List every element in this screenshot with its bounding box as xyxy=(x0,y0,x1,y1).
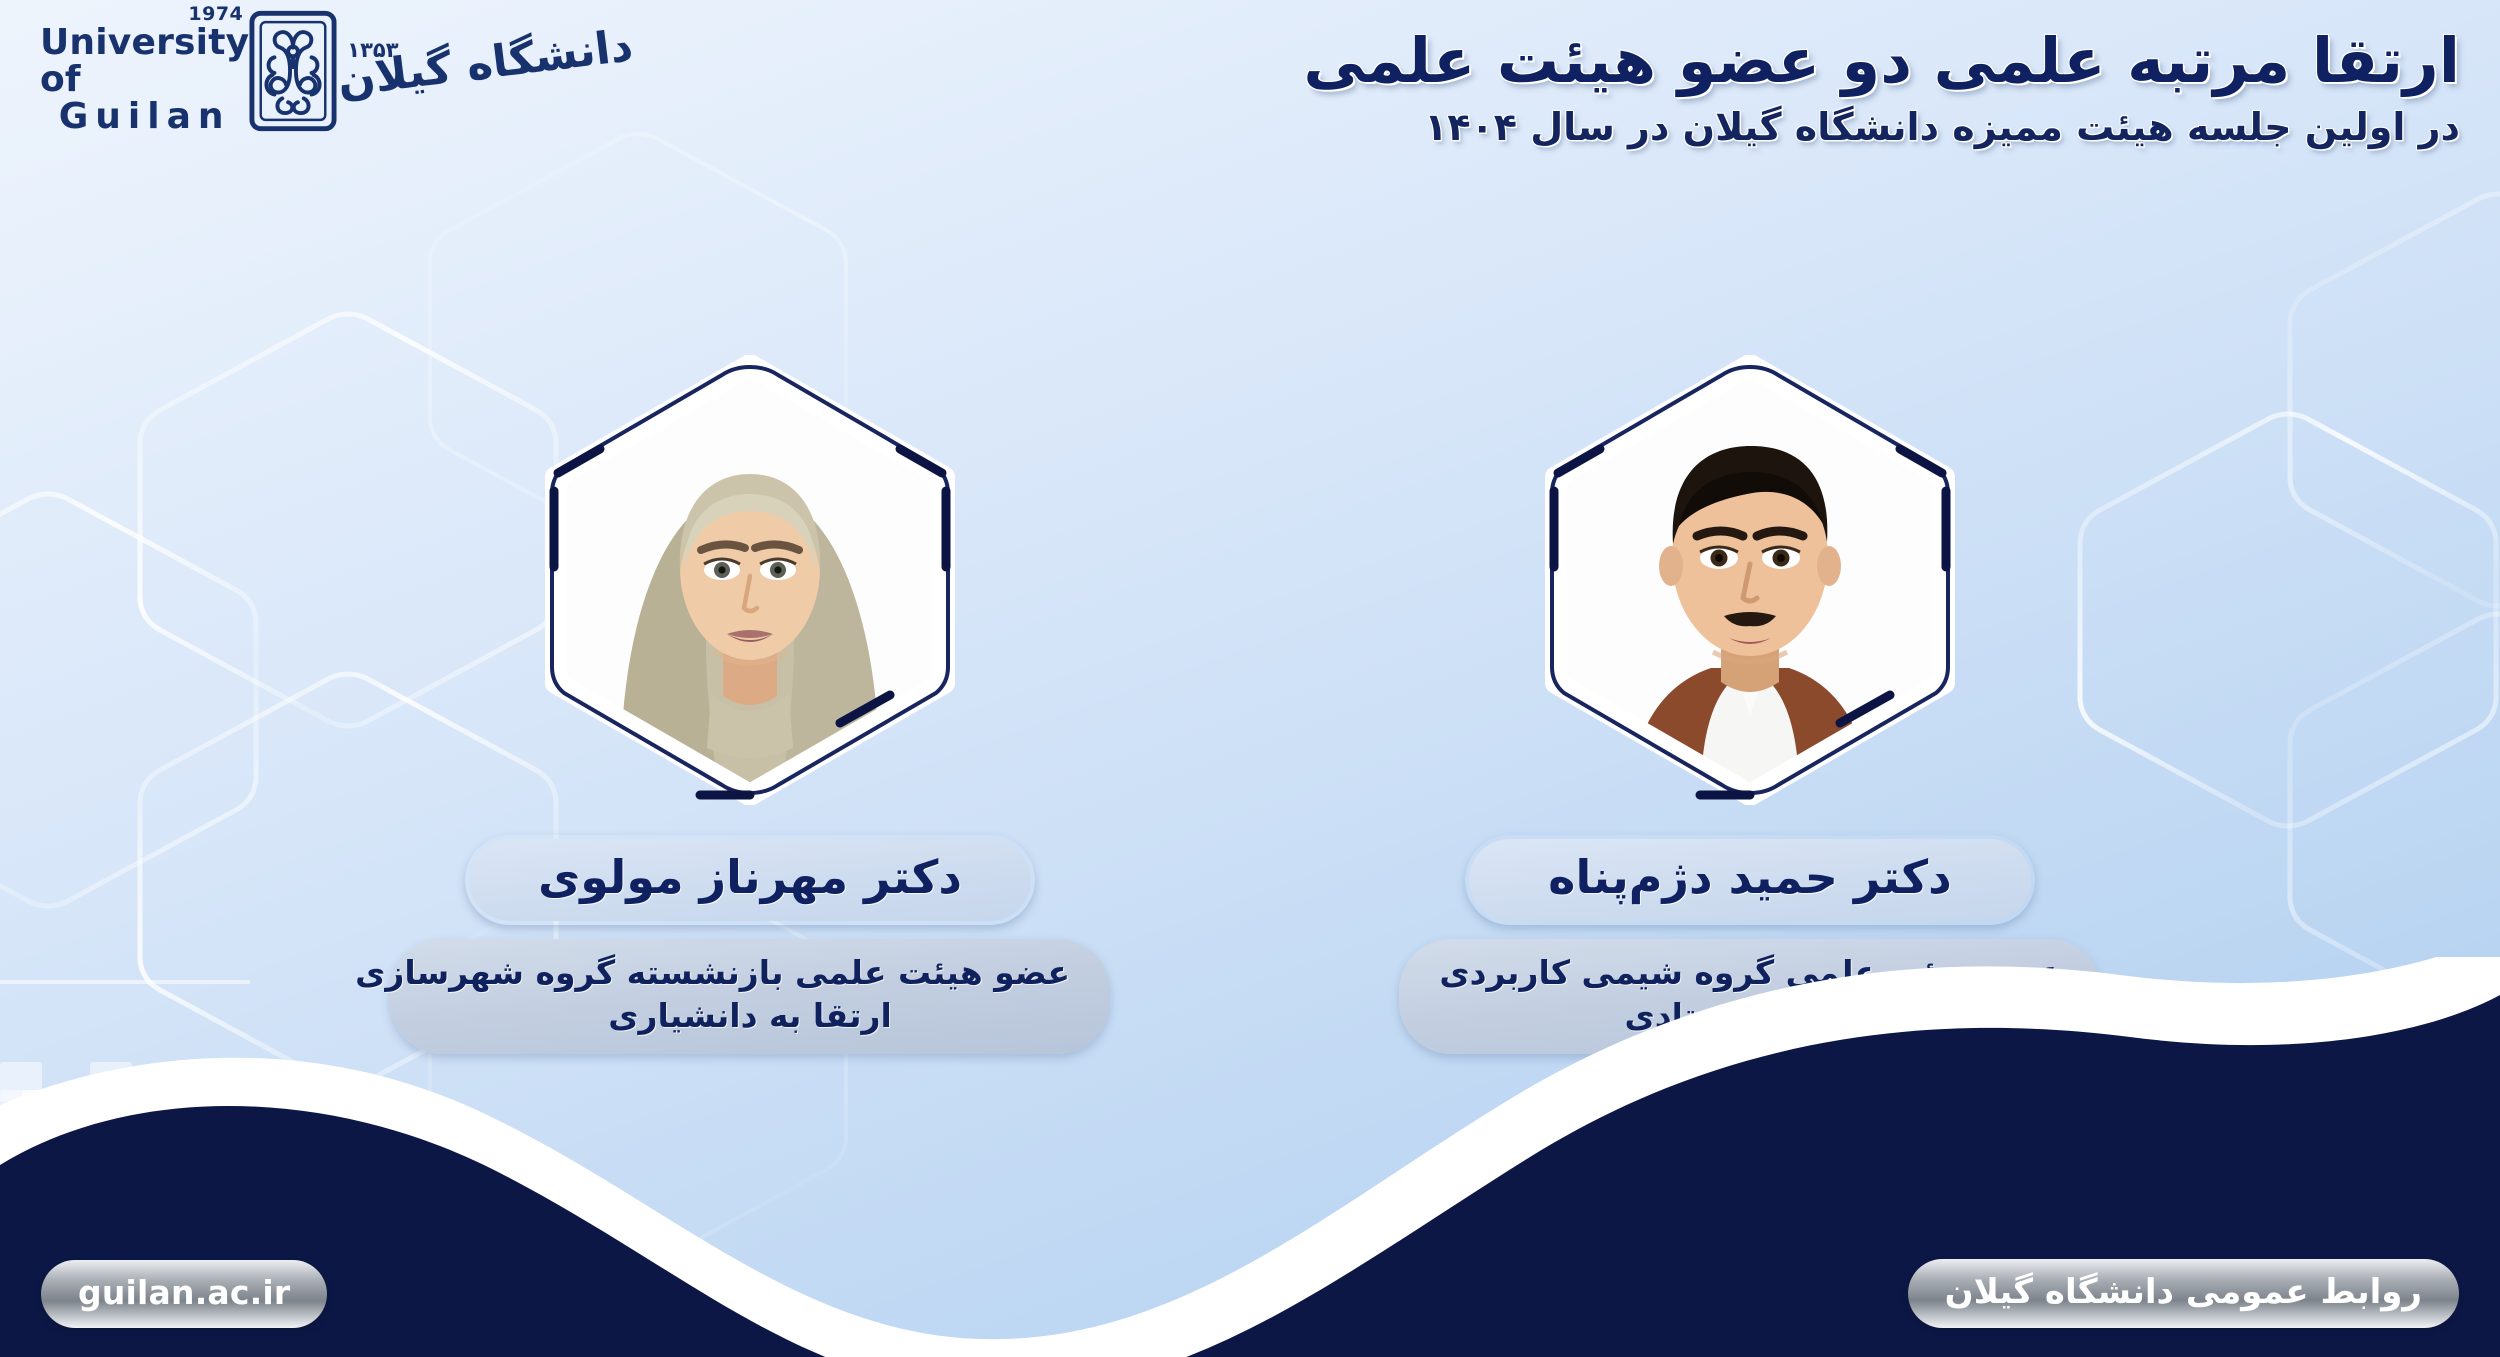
hex-photo-frame xyxy=(540,355,960,805)
website-label: guilan.ac.ir xyxy=(78,1273,290,1312)
website-pill[interactable]: guilan.ac.ir xyxy=(44,1263,324,1325)
poster-canvas: 1974 University of Guilan ۱۳۵۳ دانشگ xyxy=(0,0,2500,1357)
logo-line2: Guilan xyxy=(59,98,231,136)
logo-name-fa: دانشگاه گیلان xyxy=(335,20,636,107)
people-row: دکتر حمید دژم‌پناه عضو هیئت علمی گروه شی… xyxy=(0,355,2500,1054)
person-name-badge: دکتر حمید دژم‌پناه xyxy=(1465,835,2035,925)
hex-frame-outline xyxy=(1540,355,1960,805)
person-card: دکتر مهرناز مولوی عضو هیئت علمی بازنشسته… xyxy=(420,355,1080,1054)
butterfly-emblem-icon xyxy=(249,10,337,132)
logo-english-text: 1974 University of Guilan xyxy=(40,5,249,136)
logo-line1: University of xyxy=(40,25,249,98)
page-title: ارتقا مرتبه علمی دو عضو هیئت علمی xyxy=(840,24,2460,97)
public-relations-label: روابط عمومی دانشگاه گیلان xyxy=(1945,1272,2422,1312)
person-name-badge: دکتر مهرناز مولوی xyxy=(465,835,1035,925)
person-name: دکتر مهرناز مولوی xyxy=(515,849,985,907)
person-card: دکتر حمید دژم‌پناه عضو هیئت علمی گروه شی… xyxy=(1420,355,2080,1054)
hex-frame-outline xyxy=(540,355,960,805)
university-logo: 1974 University of Guilan ۱۳۵۳ دانشگ xyxy=(20,8,490,133)
page-subtitle: در اولین جلسه هیئت ممیزه دانشگاه گیلان د… xyxy=(840,103,2460,152)
hex-photo-frame xyxy=(1540,355,1960,805)
public-relations-pill: روابط عمومی دانشگاه گیلان xyxy=(1911,1262,2456,1325)
logo-persian-text: ۱۳۵۳ دانشگاه گیلان xyxy=(341,34,638,107)
header-text-block: ارتقا مرتبه علمی دو عضو هیئت علمی در اول… xyxy=(840,24,2460,153)
person-name: دکتر حمید دژم‌پناه xyxy=(1515,849,1985,907)
